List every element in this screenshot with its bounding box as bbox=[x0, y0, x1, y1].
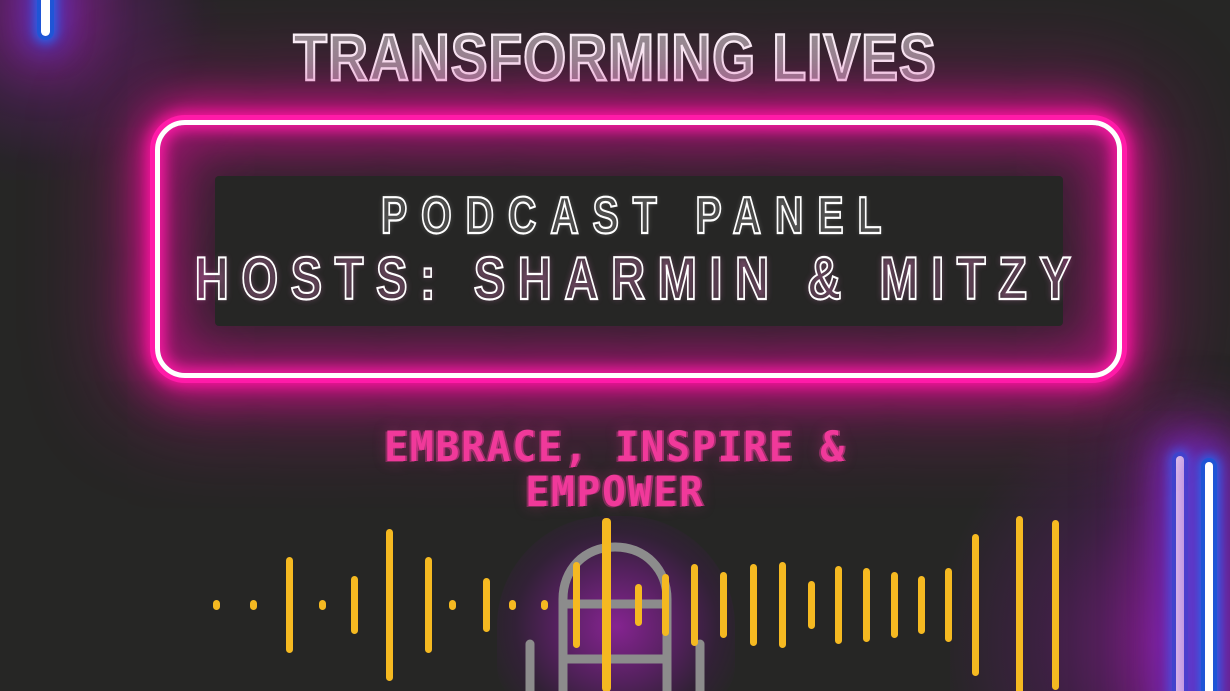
tagline-line-1: EMBRACE, INSPIRE & bbox=[384, 422, 846, 471]
waveform-bar bbox=[863, 568, 870, 642]
waveform-bar bbox=[286, 557, 293, 653]
podcast-panel-heading: PODCAST PANEL bbox=[381, 189, 895, 241]
microphone-outline-icon bbox=[517, 541, 713, 691]
waveform-bar bbox=[449, 600, 456, 610]
waveform-bar bbox=[483, 578, 490, 632]
frame-text-block: PODCAST PANEL HOSTS: SHARMIN & MITZY bbox=[155, 120, 1122, 378]
waveform-bar bbox=[213, 600, 220, 610]
waveform-bar bbox=[720, 572, 727, 638]
waveform-bar bbox=[972, 534, 979, 676]
waveform-bar bbox=[808, 581, 815, 629]
microphone-svg bbox=[517, 541, 713, 691]
waveform-bar bbox=[1016, 516, 1023, 691]
waveform-bar bbox=[1052, 520, 1059, 690]
poster-canvas: TRANSFORMING LIVES PODCAST PANEL HOSTS: … bbox=[0, 0, 1230, 691]
tagline-line-2: EMPOWER bbox=[37, 469, 1193, 514]
tagline: EMBRACE, INSPIRE & EMPOWER bbox=[37, 424, 1193, 515]
neon-blue-tube-icon-topleft bbox=[41, 0, 50, 36]
waveform-bar bbox=[835, 566, 842, 644]
waveform-bar bbox=[509, 600, 516, 610]
hosts-heading: HOSTS: SHARMIN & MITZY bbox=[194, 249, 1083, 309]
waveform-bar bbox=[945, 568, 952, 642]
waveform-bar bbox=[891, 572, 898, 638]
neon-blue-tube-icon-right-2 bbox=[1205, 462, 1213, 691]
waveform-bar bbox=[351, 576, 358, 634]
waveform-bar bbox=[425, 557, 432, 653]
waveform-bar bbox=[386, 529, 393, 681]
page-title: TRANSFORMING LIVES bbox=[98, 24, 1131, 90]
waveform-bar bbox=[319, 600, 326, 610]
waveform-bar bbox=[750, 564, 757, 646]
waveform-bar bbox=[250, 600, 257, 610]
waveform-bar bbox=[779, 562, 786, 648]
waveform-bar bbox=[918, 576, 925, 634]
